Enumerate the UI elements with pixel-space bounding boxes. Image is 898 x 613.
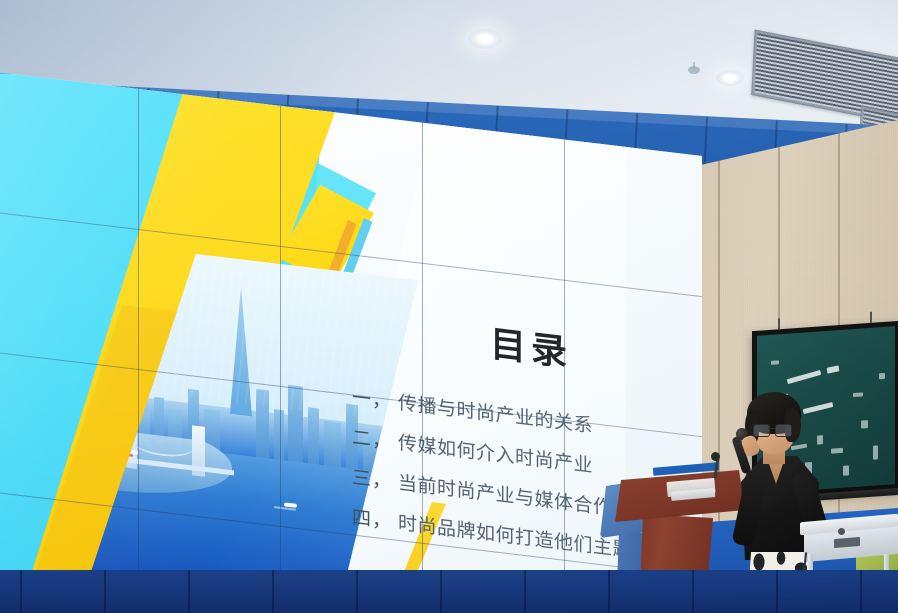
led-seam-vertical (280, 84, 281, 594)
eyeglasses-icon (753, 424, 793, 435)
led-seam-vertical (564, 118, 565, 594)
base-skirt-seam (776, 570, 778, 613)
base-skirt-seam (524, 570, 526, 613)
base-skirt-seam (272, 570, 274, 613)
base-skirt-seam (440, 570, 442, 613)
presentation-room-photo: 目录 一， 传播与时尚产业的关系 二， 传媒如何介入时尚产业 三， 当前时尚产业… (0, 0, 898, 613)
toc-item-number: 三， (352, 462, 398, 494)
wall-base-skirt (0, 570, 898, 613)
base-skirt-seam (692, 570, 694, 613)
base-skirt-seam (188, 570, 190, 613)
smoke-detector-icon (688, 66, 700, 74)
base-skirt-seam (356, 570, 358, 613)
toc-item-number: 二， (352, 422, 398, 454)
base-skirt-seam (608, 570, 610, 613)
desk-knob-icon (838, 528, 845, 535)
downlight-icon-1 (468, 29, 502, 49)
base-skirt-seam (860, 570, 862, 613)
downlight-icon-2 (716, 70, 744, 86)
led-seam-vertical (422, 101, 423, 594)
toc-item-number: 四， (352, 502, 398, 534)
podium-microphone-icon (711, 452, 720, 461)
led-seam-vertical (138, 72, 139, 594)
base-skirt-seam (20, 570, 22, 613)
base-skirt-seam (104, 570, 106, 613)
